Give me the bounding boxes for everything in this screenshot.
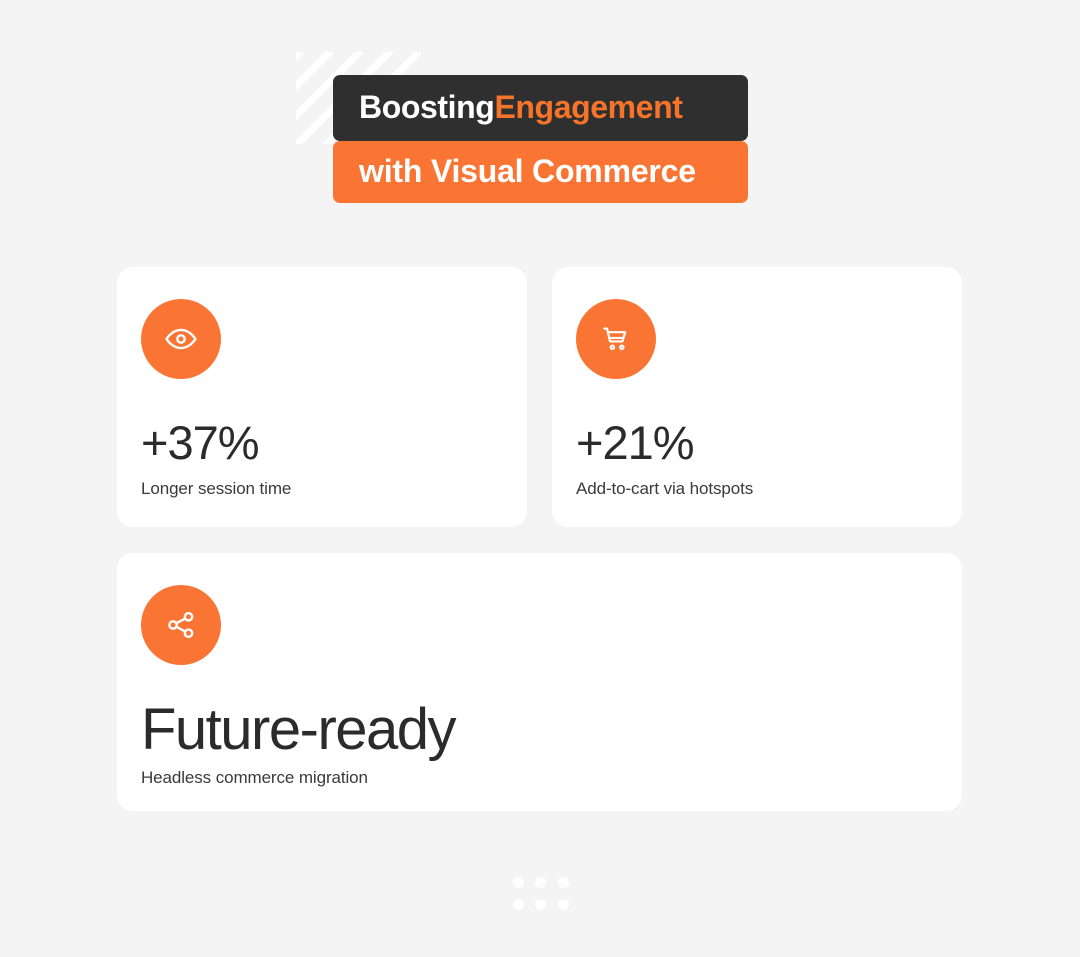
dot <box>535 877 546 888</box>
title-line-1-badge: Boosting Engagement <box>333 75 748 141</box>
stat-value: Future-ready <box>141 701 455 759</box>
shopping-cart-icon <box>576 299 656 379</box>
dot <box>513 877 524 888</box>
stat-label: Longer session time <box>141 479 291 499</box>
title-line-1-plain: Boosting <box>359 89 494 126</box>
title-line-2-text: with Visual Commerce <box>359 153 696 190</box>
page-title: Boosting Engagement with Visual Commerce <box>333 75 748 203</box>
dot <box>558 899 569 910</box>
eye-icon <box>141 299 221 379</box>
stat-card-future-ready[interactable]: Future-ready Headless commerce migration <box>117 553 962 811</box>
stat-card-session-time[interactable]: +37% Longer session time <box>117 267 527 527</box>
dot <box>535 899 546 910</box>
slide-canvas: Boosting Engagement with Visual Commerce… <box>0 0 1080 957</box>
title-line-2-badge: with Visual Commerce <box>333 141 748 203</box>
stat-label: Headless commerce migration <box>141 768 368 788</box>
stat-label: Add-to-cart via hotspots <box>576 479 753 499</box>
title-line-1-accent: Engagement <box>494 89 682 126</box>
footer-dot-grid <box>513 877 569 910</box>
stat-card-add-to-cart[interactable]: +21% Add-to-cart via hotspots <box>552 267 962 527</box>
stat-cards-row: +37% Longer session time +21% Add-to-car… <box>117 267 962 527</box>
stat-value: +37% <box>141 419 259 466</box>
share-icon <box>141 585 221 665</box>
stat-value: +21% <box>576 419 694 466</box>
dot <box>513 899 524 910</box>
dot <box>558 877 569 888</box>
